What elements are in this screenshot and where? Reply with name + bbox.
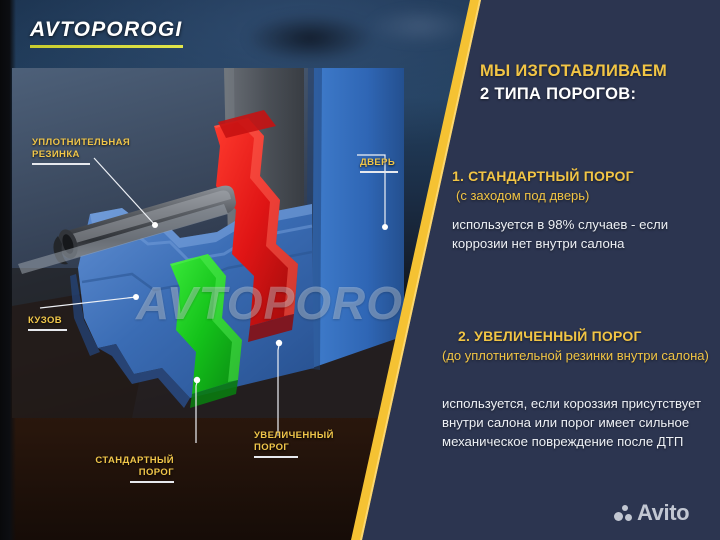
section-2-subtitle: (до уплотнительной резинки внутри салона…: [442, 347, 720, 364]
poster-canvas: AVTOPOROGI: [0, 0, 720, 540]
avito-dots-icon: [614, 504, 633, 522]
section-2-title: 2. УВЕЛИЧЕННЫЙ ПОРОГ: [458, 328, 642, 344]
avito-watermark: Avito: [614, 500, 689, 526]
section-1-title: 1. СТАНДАРТНЫЙ ПОРОГ: [452, 168, 634, 184]
avito-label: Avito: [637, 500, 689, 526]
section-1-subtitle: (с заходом под дверь): [456, 187, 716, 204]
panel-heading-line1: МЫ ИЗГОТАВЛИВАЕМ: [480, 62, 667, 81]
section-1-body: используется в 98% случаев - если корроз…: [452, 215, 720, 253]
info-panel: МЫ ИЗГОТАВЛИВАЕМ 2 ТИПА ПОРОГОВ: 1. СТАН…: [418, 0, 720, 540]
section-2-body: используется, если короззия присутствует…: [442, 394, 720, 451]
panel-heading-line2: 2 ТИПА ПОРОГОВ:: [480, 85, 636, 104]
